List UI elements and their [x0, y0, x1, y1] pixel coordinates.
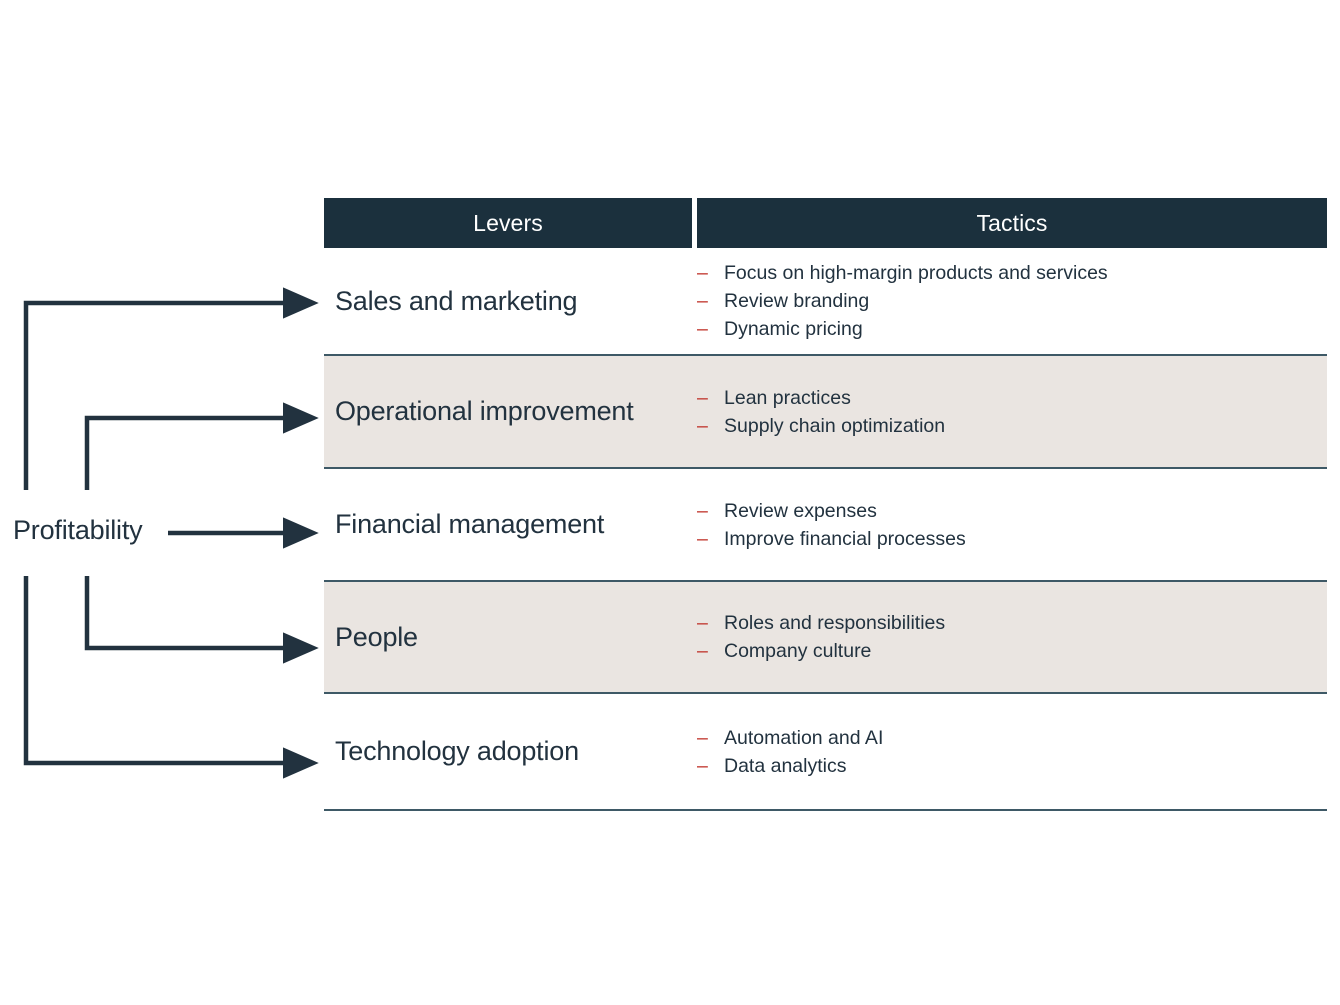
lever-label: Operational improvement: [335, 396, 634, 427]
table-row: Operational improvement – Lean practices…: [324, 354, 1327, 469]
tactic-item: – Review expenses: [697, 497, 1327, 525]
tactics-cell: – Focus on high-margin products and serv…: [692, 248, 1327, 354]
bullet-dash-icon: –: [697, 259, 724, 287]
tactics-cell: – Lean practices – Supply chain optimiza…: [692, 356, 1327, 467]
tactic-label: Company culture: [724, 637, 871, 665]
tactic-item: – Lean practices: [697, 384, 1327, 412]
levers-tactics-table: Levers Tactics Sales and marketing – Foc…: [324, 198, 1327, 811]
bullet-dash-icon: –: [697, 724, 724, 752]
tactic-item: – Data analytics: [697, 752, 1327, 780]
tactic-label: Supply chain optimization: [724, 412, 945, 440]
column-header-tactics: Tactics: [697, 198, 1327, 248]
tactic-label: Lean practices: [724, 384, 851, 412]
connector-technology-adoption: [26, 576, 285, 763]
lever-label: People: [335, 622, 418, 653]
lever-cell: Operational improvement: [324, 356, 692, 467]
tactic-label: Review expenses: [724, 497, 877, 525]
bullet-dash-icon: –: [697, 384, 724, 412]
slide-canvas: Profitability Levers Tactics Sales and m…: [0, 0, 1340, 1005]
table-row: Sales and marketing – Focus on high-marg…: [324, 248, 1327, 354]
tactics-cell: – Roles and responsibilities – Company c…: [692, 582, 1327, 692]
connector-operational-improvement: [87, 418, 285, 490]
table-row: People – Roles and responsibilities – Co…: [324, 580, 1327, 694]
tactic-item: – Roles and responsibilities: [697, 609, 1327, 637]
connector-sales-and-marketing: [26, 303, 285, 490]
bullet-dash-icon: –: [697, 525, 724, 553]
tactic-label: Automation and AI: [724, 724, 883, 752]
lever-label: Technology adoption: [335, 736, 579, 767]
lever-cell: Financial management: [324, 469, 692, 580]
tactic-label: Data analytics: [724, 752, 846, 780]
tactic-item: – Automation and AI: [697, 724, 1327, 752]
bullet-dash-icon: –: [697, 752, 724, 780]
root-node-profitability: Profitability: [13, 515, 142, 546]
column-header-levers: Levers: [324, 198, 692, 248]
bullet-dash-icon: –: [697, 609, 724, 637]
bullet-dash-icon: –: [697, 412, 724, 440]
tactic-item: – Review branding: [697, 287, 1327, 315]
table-header-row: Levers Tactics: [324, 198, 1327, 248]
lever-label: Sales and marketing: [335, 286, 577, 317]
bullet-dash-icon: –: [697, 637, 724, 665]
lever-cell: Sales and marketing: [324, 248, 692, 354]
tactic-item: – Improve financial processes: [697, 525, 1327, 553]
tactic-label: Roles and responsibilities: [724, 609, 945, 637]
tactic-item: – Supply chain optimization: [697, 412, 1327, 440]
tactics-cell: – Review expenses – Improve financial pr…: [692, 469, 1327, 580]
tactic-item: – Company culture: [697, 637, 1327, 665]
bullet-dash-icon: –: [697, 497, 724, 525]
bullet-dash-icon: –: [697, 315, 724, 343]
connector-people: [87, 576, 285, 648]
tactic-item: – Focus on high-margin products and serv…: [697, 259, 1327, 287]
table-row: Financial management – Review expenses –…: [324, 469, 1327, 580]
lever-label: Financial management: [335, 509, 604, 540]
table-row: Technology adoption – Automation and AI …: [324, 694, 1327, 811]
tactics-cell: – Automation and AI – Data analytics: [692, 694, 1327, 809]
tactic-label: Focus on high-margin products and servic…: [724, 259, 1108, 287]
bullet-dash-icon: –: [697, 287, 724, 315]
tactic-item: – Dynamic pricing: [697, 315, 1327, 343]
tactic-label: Review branding: [724, 287, 869, 315]
tactic-label: Dynamic pricing: [724, 315, 863, 343]
lever-cell: People: [324, 582, 692, 692]
lever-cell: Technology adoption: [324, 694, 692, 809]
tactic-label: Improve financial processes: [724, 525, 966, 553]
